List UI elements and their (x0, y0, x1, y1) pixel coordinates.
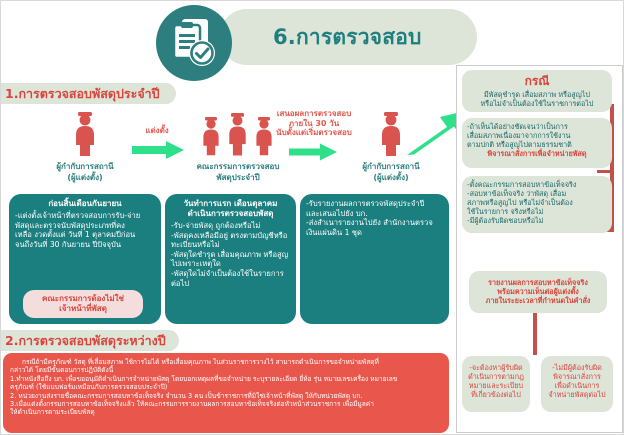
connector-horizontal-split (533, 352, 537, 355)
box2-line-2: -พัสดุคงเหลือมีอยู่ ตรงตามบัญชีหรือ (171, 231, 290, 241)
section-2-banner: 2.การตรวจสอบพัสดุระหว่างปี (1, 330, 179, 351)
box6r-line-4: จำหน่ายพัสดุต่อไป (546, 390, 608, 399)
case-box-line-1: มีพัสดุชำรุด เสื่อมสภาพ หรือสูญไป (467, 90, 607, 99)
box1-line-4: จนถึงวันที่ 30 กันยายน ปีปัจจุบัน (15, 240, 155, 250)
info-box-report-receipt: -รับรายงานผลการตรวจพัสดุประจำปี และเสนอไ… (300, 194, 449, 324)
liable-person-box: -จะต้องหาผู้รับผิด ดำเนินการตามกฎ หมายแล… (462, 356, 530, 412)
box2r-line-1: -ถ้าเห็นได้อย่างชัดเจนว่าเป็นการ (467, 122, 607, 131)
box3r-line-4: ใช้ในรายการ จริงหรือไม่ (467, 207, 607, 216)
box1-pill-line1: คณะกรรมการต้องไม่ใช่ (42, 294, 124, 303)
infographic-page: 6.การตรวจสอบ 1.การตรวจสอบพัสดุประจำปี ผู… (0, 0, 624, 435)
info-box-first-working-day-oct: วันทำการแรก เดือนตุลาคม ดำเนินการตรวจสอบ… (165, 194, 296, 324)
arrow-1-label: แต่งตั้ง (127, 126, 187, 136)
box3-line-3: -ส่งสำเนารายงานไปยัง สำนักงานตรวจ (306, 218, 443, 228)
arrow-1-icon (132, 140, 184, 164)
flow-node-3-label-line2: (ผู้แต่งตั้ง) (337, 173, 445, 183)
fact-finding-committee-box: -ตั้งคณะกรรมการสอบหาข้อเท็จจริง -สอบหาข้… (462, 176, 612, 233)
report-results-box: รายงานผลการสอบหาข้อเท็จจริง พร้อมความเห็… (469, 271, 607, 313)
case-box-line-2: หรือไม่จำเป็นต้องใช้ในราชการต่อไป (467, 99, 607, 108)
box2-line-6: -พัสดุใดไม่จำเป็นต้องใช้ในรายการ (171, 269, 290, 279)
person-icon (70, 111, 100, 157)
section-2-content-panel: กรณีถ้ามีครุภัณฑ์ วัสดุ ที่เสื่อมสภาพ ใช… (3, 353, 449, 433)
box5r-line-1: -จะต้องหาผู้รับผิด (467, 363, 525, 372)
case-box: กรณี มีพัสดุชำรุด เสื่อมสภาพ หรือสูญไป ห… (462, 70, 612, 112)
box1-line-2: พัสดุและตรวจนับพัสดุประเภทที่คง (15, 221, 155, 231)
box2r-line-3: ตามปกติ หรือสูญไปตามธรรมชาติ (467, 140, 607, 149)
box5r-line-2: ดำเนินการตามกฎ (467, 372, 525, 381)
box6r-line-3: เพื่อดำเนินการ (546, 381, 608, 390)
box1-note-pill: คณะกรรมการต้องไม่ใช่ เจ้าหน้าที่พัสดุ (23, 290, 143, 318)
section2-line-4: ครุภัณฑ์ (ใช้แบบฟอร์มเหมือนกับการตรวจสอบ… (10, 383, 442, 391)
box2-line-7: ต่อไป (171, 279, 290, 289)
no-liable-person-box: -ไม่มีผู้ต้องรับผิด พิจารณาสั่งการ เพื่อ… (541, 356, 613, 412)
box3-line-4: เงินแผ่นดิน 1 ชุด (306, 228, 443, 238)
box5r-line-4: ที่เกี่ยวข้องต่อไป (467, 390, 525, 399)
flow-node-2-label-line2: พัสดุประจำปี (179, 173, 297, 183)
box2-line-3: ทะเบียนหรือไม่ (171, 240, 290, 250)
connector-branch-mid (597, 170, 613, 173)
box3r-line-2: -สอบหาข้อเท็จจริง ว่าพัสดุ เสื่อม (467, 189, 607, 198)
flow-node-1-label-line1: ผู้กำกับการสถานี (31, 162, 139, 172)
section2-line-5: 2. หน่วยงานส่งรายชื่อคณะกรรมการสอบหาข้อเ… (10, 392, 442, 400)
arrow-2-icon (289, 143, 337, 166)
box2-line-4: -พัสดุใดชำรุด เสื่อมคุณภาพ หรือสูญ (171, 250, 290, 260)
box1-line-3: เหลือ งวดตั้งแต่ วันที่ 1 ตุลาคมปีก่อน (15, 230, 155, 240)
box2-line-5: ไปเพราะเหตุใด (171, 259, 290, 269)
section2-line-7: ให้ดำเนินการตามระเบียบพัสดุ (10, 408, 442, 416)
box3-line-2: และเสนอไปยัง บก. (306, 209, 443, 219)
clipboard-check-icon (156, 5, 232, 81)
person-icon (376, 111, 406, 157)
box2-line-1: -รับ-จ่ายพัสดุ ถูกต้องหรือไม่ (171, 221, 290, 231)
box6r-line-1: -ไม่มีผู้ต้องรับผิด (546, 363, 608, 372)
box1-line-1: -แต่งตั้งเจ้าหน้าที่ตรวจสอบการรับ-จ่าย (15, 211, 155, 221)
section-1-banner: 1.การตรวจสอบพัสดุประจำปี (1, 83, 176, 104)
box3r-line-1: -ตั้งคณะกรรมการสอบหาข้อเท็จจริง (467, 180, 607, 189)
section2-line-3: 1.ทำหนังสือถึง บก. เพื่อขออนุมัติดำเนินก… (10, 375, 442, 383)
box3r-line-3: สภาพหรือสูญไป หรือไม่จำเป็นต้อง (467, 198, 607, 207)
case-box-heading: กรณี (467, 74, 607, 89)
case-natural-wear-box: -ถ้าเห็นได้อย่างชัดเจนว่าเป็นการ เสื่อมส… (462, 118, 612, 168)
box4r-line-2: พร้อมความเห็นต่อผู้แต่งตั้ง (474, 287, 602, 296)
section2-line-6: 3.เมื่อแต่งตั้งกรรมการสอบหาข้อเท็จจริงแล… (10, 400, 442, 408)
box6r-line-2: พิจารณาสั่งการ (546, 372, 608, 381)
box3r-line-5: -มีผู้ต้องรับผิดชอบหรือไม่ (467, 216, 607, 225)
box2-heading-line2: ดำเนินการตรวจสอบพัสดุ (171, 209, 290, 219)
section-1-flow: ผู้กำกับการสถานี (ผู้แต่งตั้ง) แต่งตั้ง (1, 105, 453, 191)
section2-line-2: กล่าวได้ โดยมีขั้นตอนการปฏิบัติดังนี้ (10, 366, 442, 374)
box1-pill-line2: เจ้าหน้าที่พัสดุ (59, 304, 107, 313)
box4r-line-3: ภายในระยะเวลาที่กำหนดในคำสั่ง (474, 296, 602, 305)
box3-line-1: -รับรายงานผลการตรวจพัสดุประจำปี (306, 199, 443, 209)
box1-heading: ก่อนสิ้นเดือนกันยายน (15, 199, 155, 209)
page-title: 6.การตรวจสอบ (273, 23, 473, 51)
box2-heading-line1: วันทำการแรก เดือนตุลาคม (171, 199, 290, 209)
box4r-line-1: รายงานผลการสอบหาข้อเท็จจริง (474, 278, 602, 287)
right-column-panel: กรณี มีพัสดุชำรุด เสื่อมสภาพ หรือสูญไป ห… (456, 65, 623, 433)
flow-node-1-label-line2: (ผู้แต่งตั้ง) (31, 173, 139, 183)
info-box-annual-before-sept: ก่อนสิ้นเดือนกันยายน -แต่งตั้งเจ้าหน้าที… (9, 194, 161, 324)
box2r-action-line: พิจารณาสั่งการเพื่อจำหน่ายพัสดุ (467, 149, 607, 158)
box5r-line-3: หมายและระเบียบ (467, 381, 525, 390)
flow-node-2-label-line1: คณะกรรมการตรวจสอบ (179, 162, 297, 172)
box2r-line-2: เสื่อมสภาพเนื่องมาจากการใช้งาน (467, 131, 607, 140)
flow-node-3-label-line1: ผู้กำกับการสถานี (337, 162, 445, 172)
flow-node-station-chief-1: ผู้กำกับการสถานี (ผู้แต่งตั้ง) (31, 111, 139, 183)
